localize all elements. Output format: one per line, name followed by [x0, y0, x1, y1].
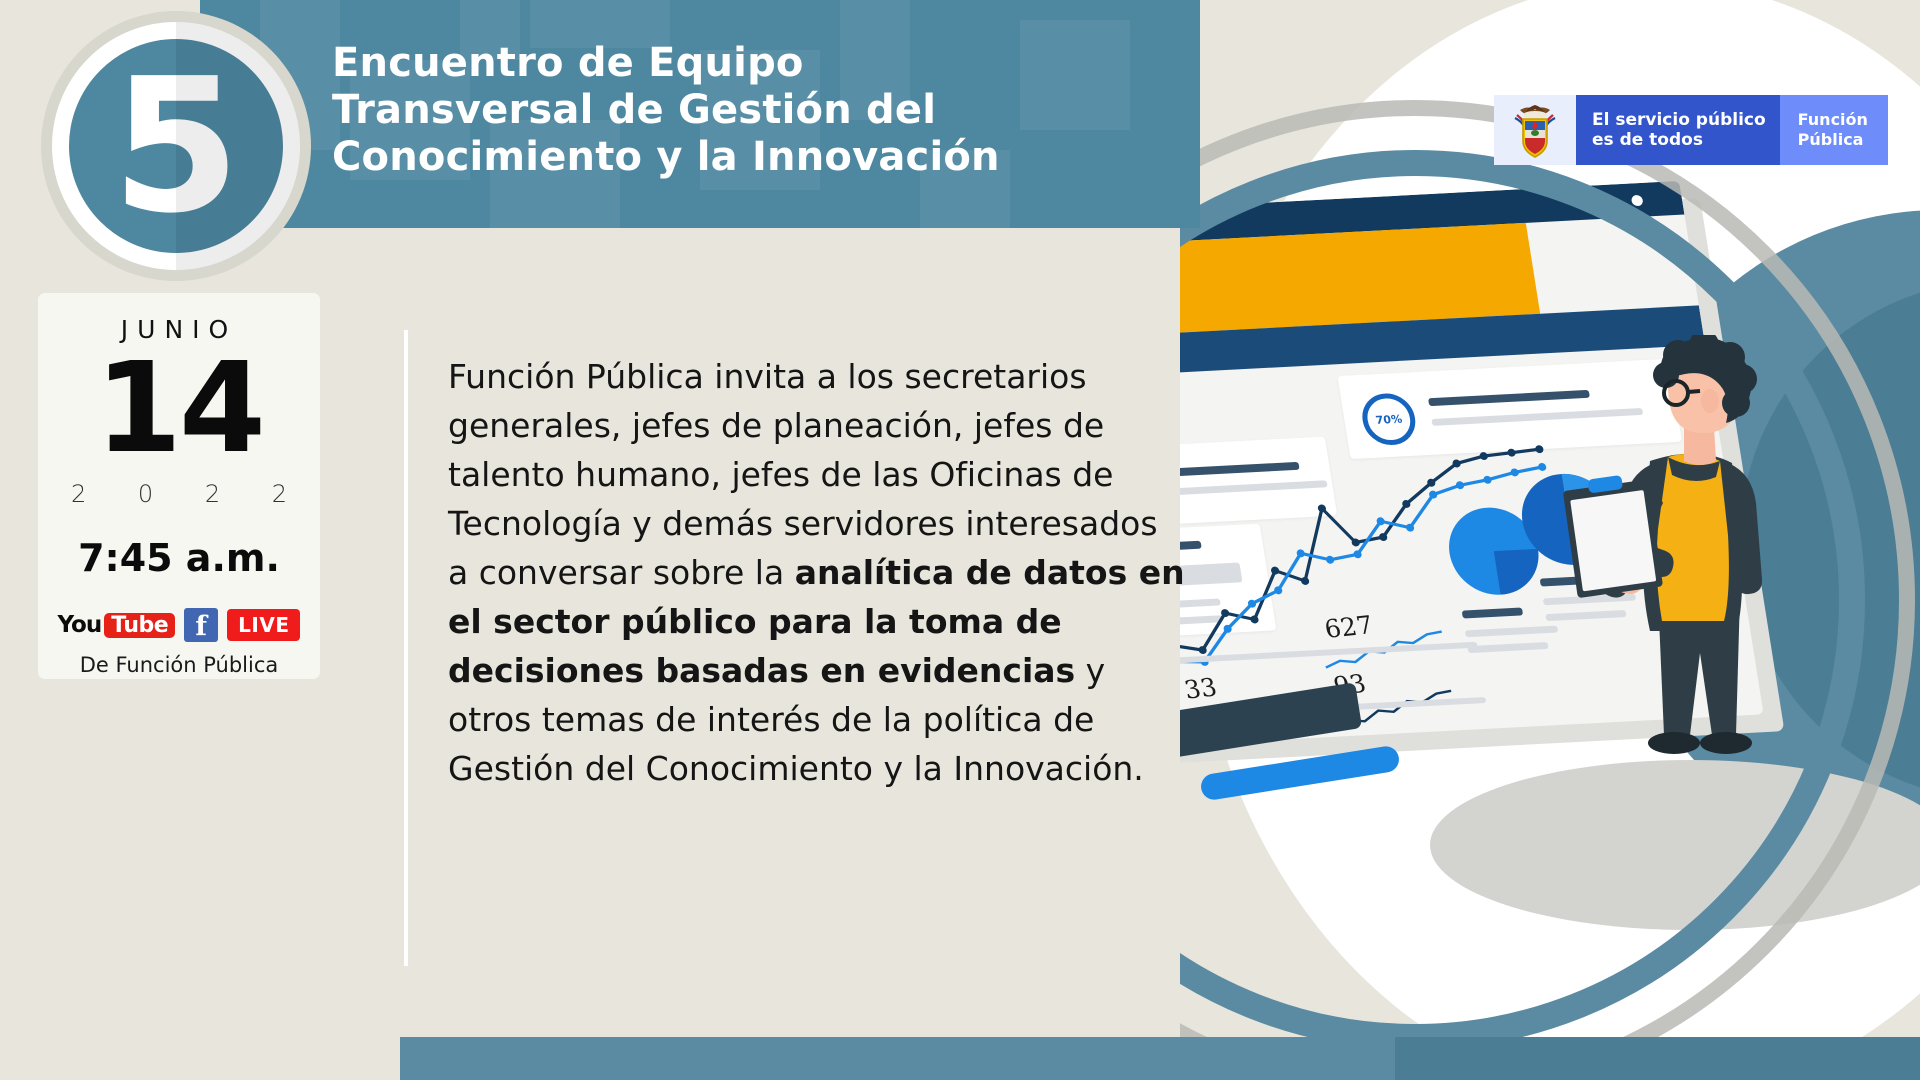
slogan-line-1: El servicio público	[1592, 110, 1766, 130]
youtube-icon[interactable]: You Tube	[58, 612, 176, 638]
colombia-shield-svg	[1512, 102, 1558, 158]
government-slogan: El servicio público es de todos	[1576, 95, 1780, 165]
slogan-line-2: es de todos	[1592, 130, 1766, 150]
entity-line-1: Función	[1798, 110, 1868, 130]
event-day: 14	[95, 348, 263, 470]
broadcast-source: De Función Pública	[80, 653, 279, 677]
government-logo: El servicio público es de todos Función …	[1494, 95, 1888, 165]
page-title-line-1: Encuentro de Equipo	[332, 40, 1052, 87]
live-badge: LIVE	[227, 609, 300, 641]
entity-line-2: Pública	[1798, 130, 1868, 150]
youtube-tube-text: Tube	[104, 613, 175, 638]
flyer-canvas: 70% 70%	[0, 0, 1920, 1080]
page-title-line-3: Conocimiento y la Innovación	[332, 134, 1052, 181]
youtube-you-text: You	[58, 612, 102, 638]
social-channels: You Tube f LIVE	[58, 608, 301, 642]
event-time: 7:45 a.m.	[78, 536, 280, 580]
vertical-divider	[404, 330, 408, 966]
footer-bar-accent	[1395, 1037, 1920, 1080]
event-description: Función Pública invita a los secretarios…	[448, 352, 1188, 793]
event-date-card: JUNIO 14 2 0 2 2 7:45 a.m. You Tube f LI…	[38, 293, 320, 679]
page-title-line-2: Transversal de Gestión del	[332, 87, 1052, 134]
event-year: 2 0 2 2	[49, 480, 309, 508]
coat-of-arms-icon	[1494, 95, 1576, 165]
entity-name: Función Pública	[1780, 95, 1888, 165]
page-title: Encuentro de Equipo Transversal de Gesti…	[332, 40, 1052, 181]
session-number-badge: 5	[52, 22, 300, 270]
facebook-icon[interactable]: f	[184, 608, 218, 642]
